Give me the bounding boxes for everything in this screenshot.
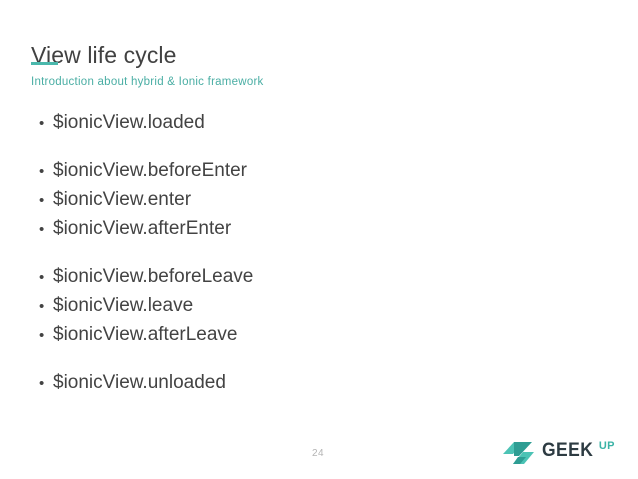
- bullet-group: • $ionicView.unloaded: [31, 368, 551, 397]
- list-item-label: $ionicView.beforeEnter: [53, 156, 247, 185]
- logo-secondary-text: UP: [599, 441, 615, 452]
- list-item-label: $ionicView.afterLeave: [53, 320, 238, 349]
- page-title: View life cycle: [31, 42, 177, 69]
- list-item: • $ionicView.enter: [31, 185, 551, 214]
- bullet-group: • $ionicView.beforeLeave • $ionicView.le…: [31, 262, 551, 349]
- bullet-point-icon: •: [31, 215, 53, 244]
- list-item-label: $ionicView.loaded: [53, 108, 205, 137]
- slide-subtitle: Introduction about hybrid & Ionic framew…: [31, 76, 264, 88]
- geek-up-mark-icon: [502, 438, 536, 468]
- list-item-label: $ionicView.beforeLeave: [53, 262, 253, 291]
- list-item: • $ionicView.beforeLeave: [31, 262, 551, 291]
- list-item-label: $ionicView.enter: [53, 185, 191, 214]
- list-item-label: $ionicView.afterEnter: [53, 214, 231, 243]
- list-item-label: $ionicView.unloaded: [53, 368, 226, 397]
- bullet-group: • $ionicView.beforeEnter • $ionicView.en…: [31, 156, 551, 243]
- logo-primary-text: GEEK: [542, 440, 593, 461]
- bullet-point-icon: •: [31, 321, 53, 350]
- list-item: • $ionicView.afterEnter: [31, 214, 551, 243]
- bullet-point-icon: •: [31, 109, 53, 138]
- geek-up-logo: GEEK UP: [502, 437, 615, 469]
- list-item: • $ionicView.loaded: [31, 108, 551, 137]
- bullet-point-icon: •: [31, 292, 53, 321]
- list-item: • $ionicView.unloaded: [31, 368, 551, 397]
- bullet-point-icon: •: [31, 369, 53, 398]
- list-item: • $ionicView.leave: [31, 291, 551, 320]
- bullet-list: • $ionicView.loaded • $ionicView.beforeE…: [31, 108, 551, 397]
- list-item: • $ionicView.afterLeave: [31, 320, 551, 349]
- logo-wordmark: GEEK UP: [542, 440, 615, 466]
- title-divider: [31, 62, 58, 65]
- bullet-point-icon: •: [31, 263, 53, 292]
- page-number: 24: [312, 448, 324, 459]
- list-item-label: $ionicView.leave: [53, 291, 193, 320]
- slide: View life cycle Introduction about hybri…: [0, 0, 638, 479]
- bullet-point-icon: •: [31, 157, 53, 186]
- bullet-group: • $ionicView.loaded: [31, 108, 551, 137]
- list-item: • $ionicView.beforeEnter: [31, 156, 551, 185]
- bullet-point-icon: •: [31, 186, 53, 215]
